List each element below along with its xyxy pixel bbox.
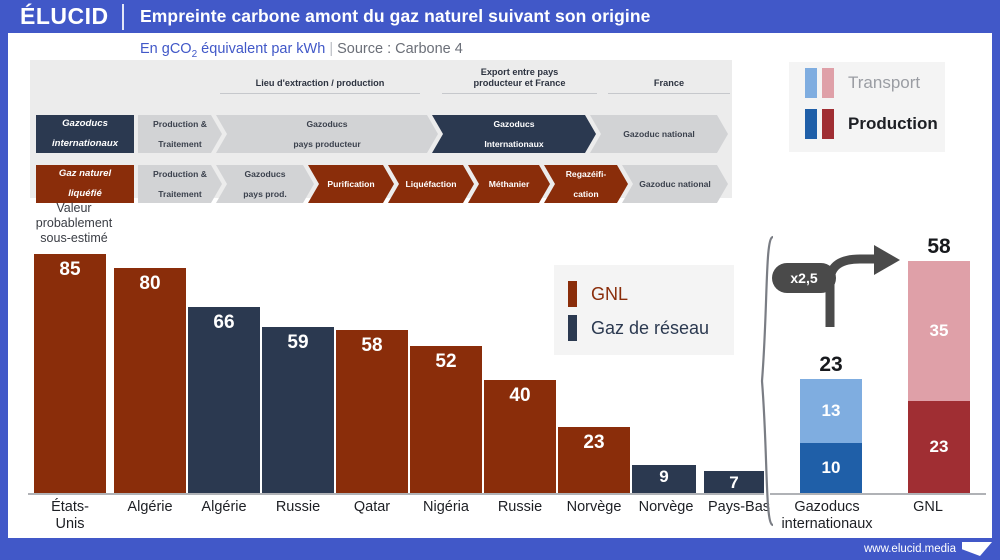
production-blue-swatch-icon — [805, 109, 817, 139]
multiplier-callout: x2,5 — [770, 229, 900, 329]
flow-step-production-line2: Traitement — [149, 139, 211, 149]
comparison-xlabel-gazoducs-line1: Gazoducs — [794, 499, 859, 515]
flow-header-rule — [608, 93, 730, 94]
flow-header-export-line2: producteur et France — [474, 78, 566, 88]
chart-axis-line — [28, 493, 764, 495]
chart-x-axis-labels: États-Unis Algérie Algérie Russie Qatar … — [22, 499, 764, 539]
flow-step-national-pipeline: Gazoduc national — [590, 115, 728, 153]
segment-gazoducs-production[interactable]: 10 — [800, 443, 862, 493]
legend-row-production: Production — [789, 103, 945, 144]
bar-norvege-gaz[interactable]: 9 — [632, 465, 696, 493]
flow-step-production: Production & Traitement — [138, 115, 222, 153]
total-label-gnl: 58 — [908, 235, 970, 259]
segment-gazoducs-transport[interactable]: 13 — [800, 379, 862, 443]
flow-step-lng-producer-pipeline: Gazoducs pays prod. — [216, 165, 314, 203]
unit-suffix: équivalent par kWh — [197, 41, 325, 57]
flow-header-france-label: France — [654, 78, 684, 88]
footer-url[interactable]: www.elucid.media — [864, 543, 962, 555]
segment-gnl-transport[interactable]: 35 — [908, 261, 970, 401]
segment-gnl-production[interactable]: 23 — [908, 401, 970, 493]
stacked-bar-gnl[interactable]: 35 23 — [908, 261, 970, 493]
flow-step-lng-national-pipeline-label: Gazoduc national — [635, 179, 715, 189]
subtitle-separator: | — [325, 41, 337, 57]
comparison-xlabel-gazoducs: Gazoducs internationaux — [756, 499, 898, 533]
flow-row-pipeline: Gazoducs internationaux Production & Tra… — [30, 115, 732, 153]
bar-nigeria[interactable]: 52 — [410, 346, 482, 493]
bar-russie-gnl[interactable]: 40 — [484, 380, 556, 493]
flow-step-lng-production-line1: Production & — [149, 169, 211, 179]
xlabel-qatar: Qatar — [332, 499, 412, 516]
flow-tag-pipeline: Gazoducs internationaux — [36, 115, 134, 153]
flow-tag-pipeline-line2: internationaux — [48, 139, 122, 149]
flow-tag-lng: Gaz naturel liquéfié — [36, 165, 134, 203]
gnl-swatch-icon — [568, 281, 577, 307]
elucid-logo: ÉLUCID — [0, 3, 122, 30]
bar-qatar[interactable]: 58 — [336, 330, 408, 493]
bar-norvege-gnl[interactable]: 23 — [558, 427, 630, 493]
flow-column-headers: Lieu d'extraction / production Export en… — [30, 64, 732, 106]
flow-step-regasification-line1: Regazéifi- — [562, 169, 611, 179]
infographic-canvas: En gCO2 équivalent par kWh|Source : Carb… — [8, 33, 992, 538]
flow-step-lng-producer-pipeline-line1: Gazoducs — [239, 169, 290, 179]
transport-red-swatch-icon — [822, 68, 834, 98]
xlabel-algerie-gnl: Algérie — [110, 499, 190, 516]
flow-step-producer-pipeline-line1: Gazoducs — [289, 119, 364, 129]
xlabel-russie-gnl: Russie — [480, 499, 560, 516]
legend-label-transport: Transport — [848, 73, 920, 93]
gaz-swatch-icon — [568, 315, 577, 341]
flow-step-liquefaction-label: Liquéfaction — [401, 179, 460, 189]
bar-algerie-gaz[interactable]: 66 — [188, 307, 260, 493]
flow-step-regasification: Regazéifi- cation — [544, 165, 628, 203]
page-title: Empreinte carbone amont du gaz naturel s… — [140, 6, 650, 27]
total-label-gazoducs: 23 — [800, 353, 862, 377]
legend-row-transport: Transport — [789, 62, 945, 103]
chart-series-legend: GNL Gaz de réseau — [554, 265, 734, 355]
flow-header-export: Export entre pays producteur et France — [442, 67, 597, 94]
flow-step-lng-production: Production & Traitement — [138, 165, 222, 203]
flow-step-methanier: Méthanier — [468, 165, 550, 203]
flow-row-lng: Gaz naturel liquéfié Production & Traite… — [30, 165, 732, 203]
bar-russie-gaz[interactable]: 59 — [262, 327, 334, 493]
comparison-xlabel-gazoducs-line2: internationaux — [781, 516, 872, 532]
xlabel-etats-unis: États-Unis — [30, 499, 110, 533]
chart-legend-row-gnl: GNL — [568, 277, 734, 311]
bar-etats-unis[interactable]: 85 — [34, 254, 106, 493]
app-header: ÉLUCID Empreinte carbone amont du gaz na… — [0, 0, 1000, 33]
flow-tag-lng-line1: Gaz naturel — [55, 169, 115, 179]
xlabel-norvege-gaz: Norvège — [624, 499, 708, 516]
flow-step-lng-production-line2: Traitement — [149, 189, 211, 199]
flow-step-international-pipeline-line1: Gazoducs — [480, 119, 547, 129]
flow-header-rule — [220, 93, 420, 94]
stacked-bar-gazoducs[interactable]: 13 10 — [800, 379, 862, 493]
xlabel-russie-gaz: Russie — [258, 499, 338, 516]
flow-header-rule — [442, 93, 597, 94]
legend-label-production: Production — [848, 114, 938, 134]
chart-legend-label-gaz: Gaz de réseau — [591, 318, 709, 339]
flow-step-national-pipeline-label: Gazoduc national — [619, 129, 699, 139]
transport-production-legend: Transport Production — [789, 62, 945, 152]
chart-legend-label-gnl: GNL — [591, 284, 628, 305]
xlabel-nigeria: Nigéria — [406, 499, 486, 516]
flow-step-international-pipeline-line2: Internationaux — [480, 139, 547, 149]
flow-header-extraction-label: Lieu d'extraction / production — [256, 78, 385, 88]
bar-pays-bas[interactable]: 7 — [704, 471, 764, 493]
flow-step-regasification-line2: cation — [562, 189, 611, 199]
chart-legend-row-gaz: Gaz de réseau — [568, 311, 734, 345]
subtitle: En gCO2 équivalent par kWh|Source : Carb… — [140, 41, 463, 60]
flow-step-liquefaction: Liquéfaction — [388, 165, 474, 203]
header-divider — [122, 4, 124, 30]
flow-header-export-line1: Export entre pays — [481, 67, 559, 77]
source-label: Source : Carbone 4 — [337, 41, 463, 57]
xlabel-algerie-gaz: Algérie — [184, 499, 264, 516]
comparison-xlabel-gnl: GNL — [880, 499, 976, 516]
app-footer: www.elucid.media — [0, 538, 1000, 560]
flow-tag-pipeline-line1: Gazoducs — [48, 119, 122, 129]
flow-step-lng-producer-pipeline-line2: pays prod. — [239, 189, 290, 199]
flow-step-purification: Purification — [308, 165, 394, 203]
transport-blue-swatch-icon — [805, 68, 817, 98]
flow-header-extraction: Lieu d'extraction / production — [220, 78, 420, 94]
flow-step-methanier-label: Méthanier — [485, 179, 534, 189]
flow-step-producer-pipeline-line2: pays producteur — [289, 139, 364, 149]
flow-tag-lng-line2: liquéfié — [55, 189, 115, 199]
multiplier-badge: x2,5 — [772, 263, 836, 293]
flow-step-producer-pipeline: Gazoducs pays producteur — [216, 115, 438, 153]
flow-header-france: France — [608, 78, 730, 94]
flow-step-international-pipeline: Gazoducs Internationaux — [432, 115, 596, 153]
bar-algerie-gnl[interactable]: 80 — [114, 268, 186, 493]
flow-step-production-line1: Production & — [149, 119, 211, 129]
comparison-axis-line — [770, 493, 986, 495]
flow-step-purification-label: Purification — [323, 179, 378, 189]
process-flow-diagram: Lieu d'extraction / production Export en… — [30, 60, 732, 198]
unit-label: En gCO — [140, 41, 192, 57]
flow-step-lng-national-pipeline: Gazoduc national — [622, 165, 728, 203]
elucid-mark-icon — [962, 542, 992, 556]
production-red-swatch-icon — [822, 109, 834, 139]
